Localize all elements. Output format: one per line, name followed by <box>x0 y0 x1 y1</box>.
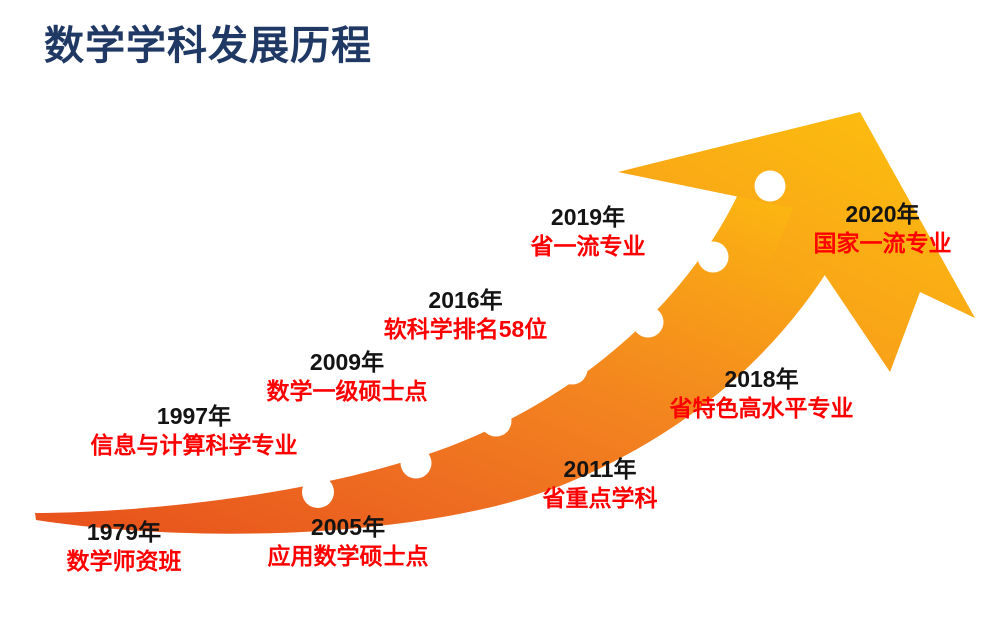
milestone-year: 1979年 <box>14 518 234 547</box>
milestone-year: 2005年 <box>239 513 457 542</box>
milestone-desc: 软科学排名58位 <box>358 315 573 344</box>
milestone-year: 2020年 <box>790 200 975 229</box>
arrow-marker-dot <box>401 448 432 479</box>
milestone-desc: 数学师资班 <box>14 547 234 576</box>
arrow-body <box>35 186 872 534</box>
milestone-year: 2016年 <box>358 286 573 315</box>
arrow-marker-dot <box>755 171 786 202</box>
milestone-2009: 2009年 数学一级硕士点 <box>243 348 451 407</box>
milestone-desc: 省一流专业 <box>505 232 671 261</box>
milestone-year: 2018年 <box>655 365 868 394</box>
milestone-desc: 国家一流专业 <box>790 229 975 258</box>
milestone-desc: 应用数学硕士点 <box>239 542 457 571</box>
milestone-1997: 1997年 信息与计算科学专业 <box>65 402 323 461</box>
arrow-marker-dot <box>633 307 664 338</box>
slide-canvas: 数学学科发展历程 <box>0 0 985 620</box>
milestone-2020: 2020年 国家一流专业 <box>790 200 975 259</box>
arrow-marker-dot <box>302 476 334 508</box>
milestone-2018: 2018年 省特色高水平专业 <box>655 365 868 424</box>
milestone-year: 2009年 <box>243 348 451 377</box>
milestone-year: 2011年 <box>509 455 691 484</box>
milestone-desc: 数学一级硕士点 <box>243 377 451 406</box>
milestone-2005: 2005年 应用数学硕士点 <box>239 513 457 572</box>
milestone-1979: 1979年 数学师资班 <box>14 518 234 577</box>
milestone-year: 2019年 <box>505 203 671 232</box>
milestone-2011: 2011年 省重点学科 <box>509 455 691 514</box>
milestone-desc: 信息与计算科学专业 <box>65 431 323 460</box>
arrow-marker-dot <box>698 242 729 273</box>
milestone-2016: 2016年 软科学排名58位 <box>358 286 573 345</box>
milestone-desc: 省重点学科 <box>509 484 691 513</box>
arrow-marker-dot <box>557 354 588 385</box>
arrow-marker-dot <box>481 406 512 437</box>
milestone-desc: 省特色高水平专业 <box>655 394 868 423</box>
milestone-2019: 2019年 省一流专业 <box>505 203 671 262</box>
